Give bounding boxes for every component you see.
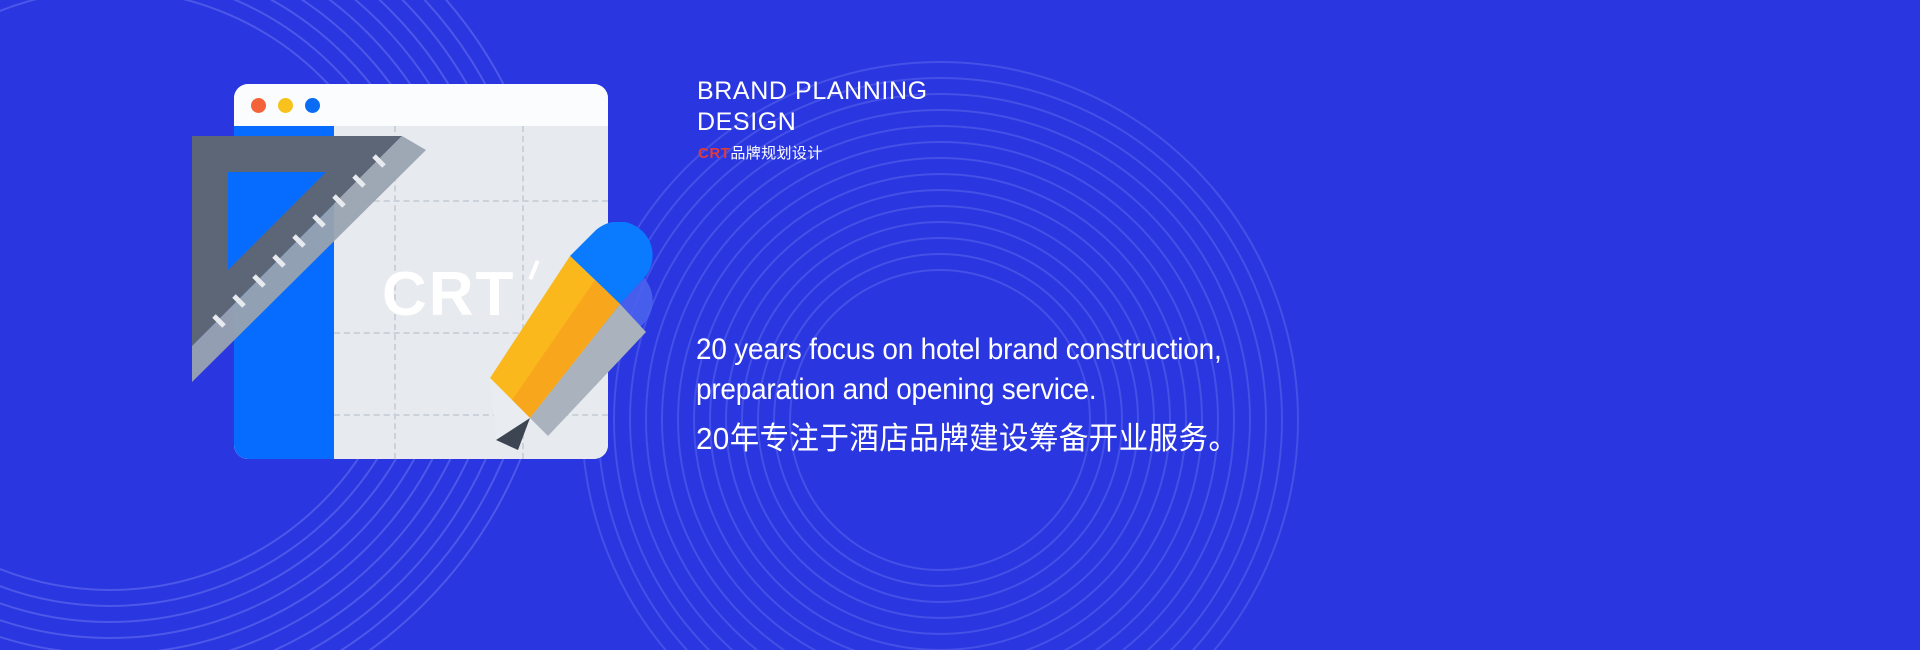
window-controls [251,98,320,113]
tagline-en-line-1: 20 years focus on hotel brand constructi… [696,330,1347,370]
subtitle-chinese: CRT品牌规划设计 [698,142,823,163]
minimize-dot-icon[interactable] [278,98,293,113]
maximize-dot-icon[interactable] [305,98,320,113]
tagline-en-line-2: preparation and opening service. [696,370,1347,410]
tagline-cn-line: 20年专注于酒店品牌建设筹备开业服务。 [696,420,1361,459]
pencil-icon [478,222,688,482]
tagline: 20 years focus on hotel brand constructi… [696,330,1396,459]
headline-line-2: DESIGN [697,107,1337,138]
banner-stage: CRT [0,0,1920,650]
browser-title-bar [234,84,608,126]
triangle-ruler-icon [188,132,426,382]
illustration: CRT [188,72,688,472]
close-dot-icon[interactable] [251,98,266,113]
headline: BRAND PLANNING DESIGN [697,76,1337,138]
subtitle-text: 品牌规划设计 [730,145,822,162]
subtitle-brand: CRT [698,145,730,162]
headline-line-1: BRAND PLANNING [697,76,1337,107]
